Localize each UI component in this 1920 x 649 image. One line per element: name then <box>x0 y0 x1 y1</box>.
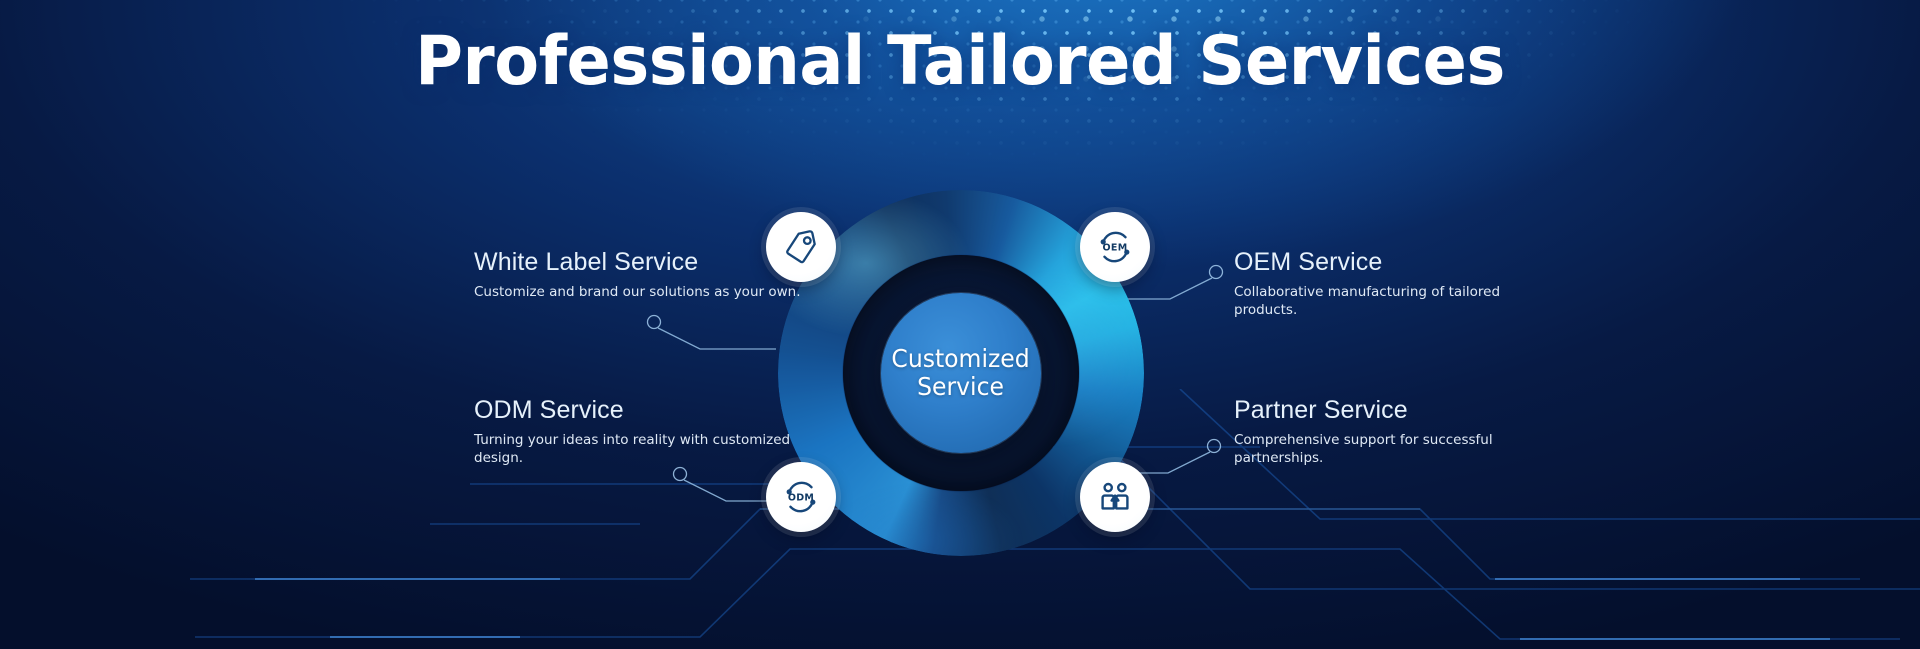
service-block-oem: OEM Service Collaborative manufacturing … <box>1234 248 1564 320</box>
page-title: Professional Tailored Services <box>38 22 1881 101</box>
service-ring-diagram: Customized Service OEM <box>778 190 1144 556</box>
connector-node-oem <box>1210 266 1223 279</box>
connector-node-odm <box>674 468 687 481</box>
service-title-oem: OEM Service <box>1234 248 1564 277</box>
service-block-white-label: White Label Service Customize and brand … <box>474 248 804 302</box>
oem-acronym: OEM <box>1103 243 1128 254</box>
odm-acronym: ODM <box>788 493 814 504</box>
oem-cycle-icon: OEM <box>1094 226 1136 268</box>
service-title-odm: ODM Service <box>474 396 804 425</box>
center-label-line2: Service <box>892 373 1030 401</box>
connector-node-partner <box>1208 440 1221 453</box>
center-circle: Customized Service <box>881 293 1041 453</box>
badge-partner[interactable] <box>1080 462 1150 532</box>
service-title-white-label: White Label Service <box>474 248 804 277</box>
odm-cycle-icon: ODM <box>780 476 822 518</box>
service-block-partner: Partner Service Comprehensive support fo… <box>1234 396 1564 468</box>
badge-oem[interactable]: OEM <box>1080 212 1150 282</box>
service-desc-partner: Comprehensive support for successful par… <box>1234 432 1564 468</box>
service-block-odm: ODM Service Turning your ideas into real… <box>474 396 804 468</box>
center-label-line1: Customized <box>892 345 1030 373</box>
service-desc-oem: Collaborative manufacturing of tailored … <box>1234 284 1564 320</box>
badge-odm[interactable]: ODM <box>766 462 836 532</box>
connector-node-white-label <box>648 316 661 329</box>
service-desc-white-label: Customize and brand our solutions as you… <box>474 284 804 302</box>
service-title-partner: Partner Service <box>1234 396 1564 425</box>
service-desc-odm: Turning your ideas into reality with cus… <box>474 432 804 468</box>
partnership-people-icon <box>1095 477 1135 517</box>
hero-banner: Professional Tailored Services Customize… <box>0 0 1920 649</box>
